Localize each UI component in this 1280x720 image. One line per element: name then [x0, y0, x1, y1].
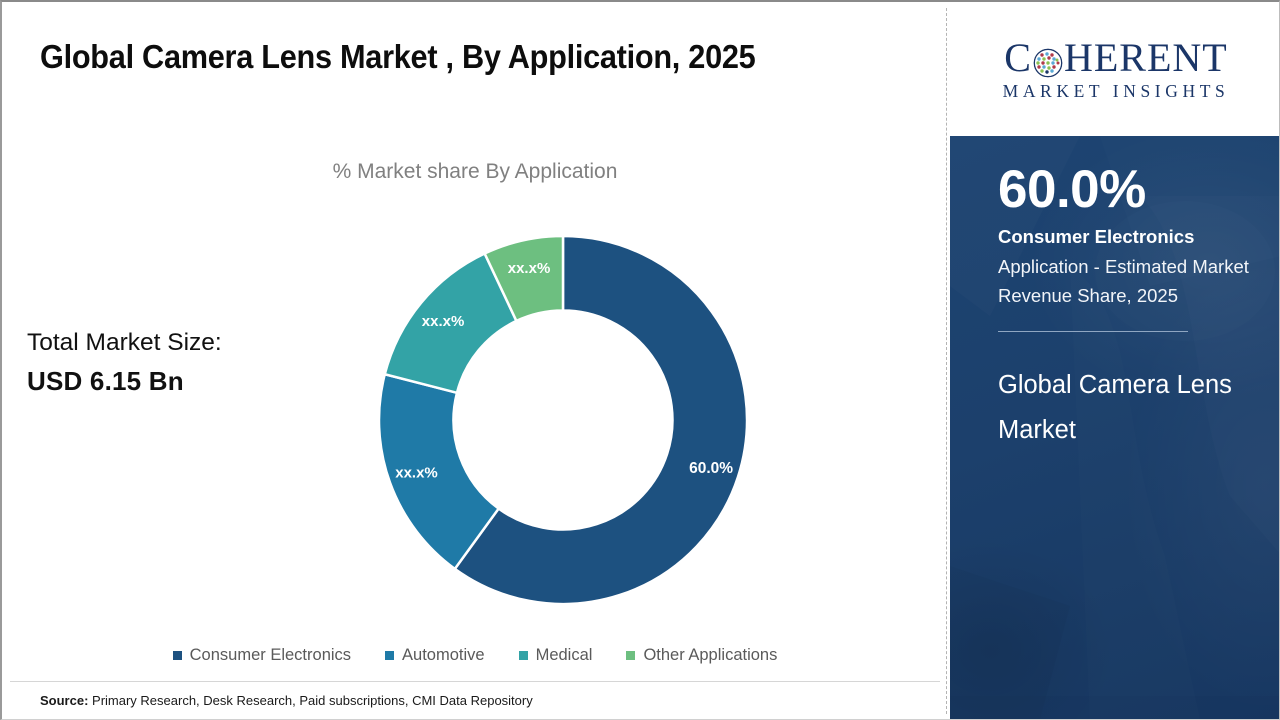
donut-chart: 60.0%xx.x%xx.x%xx.x% — [379, 236, 747, 604]
chart-subtitle: % Market share By Application — [2, 160, 948, 184]
logo-wordmark-rest: HERENT — [1064, 38, 1228, 78]
legend-item-label: Automotive — [402, 646, 485, 665]
source-text: Primary Research, Desk Research, Paid su… — [88, 693, 532, 708]
logo-wordmark: C — [1004, 38, 1227, 78]
market-share-infographic: Global Camera Lens Market , By Applicati… — [0, 0, 1280, 720]
legend-swatch-icon — [519, 651, 528, 660]
source-divider — [10, 681, 940, 682]
legend-item[interactable]: Other Applications — [626, 646, 777, 665]
company-logo: C — [950, 2, 1280, 136]
source-note: Source: Primary Research, Desk Research,… — [40, 693, 533, 708]
stat-content: 60.0% Consumer Electronics Application -… — [998, 160, 1250, 453]
legend-item[interactable]: Medical — [519, 646, 593, 665]
legend-item[interactable]: Automotive — [385, 646, 485, 665]
stat-panel: 60.0% Consumer Electronics Application -… — [950, 136, 1280, 720]
stat-segment-name: Consumer Electronics — [998, 222, 1250, 252]
total-market-size-label: Total Market Size: — [27, 324, 327, 362]
total-market-size-value: USD 6.15 Bn — [27, 362, 327, 400]
brand-stat-pane: C — [950, 2, 1280, 720]
donut-slice-label: xx.x% — [508, 260, 551, 277]
donut-slices — [379, 236, 747, 604]
logo-tagline: MARKET INSIGHTS — [1003, 83, 1230, 101]
chart-pane: Global Camera Lens Market , By Applicati… — [2, 2, 948, 720]
legend-item[interactable]: Consumer Electronics — [173, 646, 351, 665]
donut-slice-label: 60.0% — [689, 460, 733, 477]
total-market-size-block: Total Market Size: USD 6.15 Bn — [27, 324, 327, 400]
legend-item-label: Other Applications — [643, 646, 777, 665]
donut-slice-label: xx.x% — [395, 465, 438, 482]
legend-swatch-icon — [626, 651, 635, 660]
donut-chart-svg: 60.0%xx.x%xx.x%xx.x% — [379, 236, 747, 604]
legend-item-label: Consumer Electronics — [190, 646, 351, 665]
stat-market-name: Global Camera Lens Market — [998, 363, 1250, 453]
logo-letter-c: C — [1004, 38, 1032, 78]
vertical-dashed-separator — [946, 8, 947, 714]
donut-slice-label: xx.x% — [422, 313, 465, 330]
legend-item-label: Medical — [536, 646, 593, 665]
page-title: Global Camera Lens Market , By Applicati… — [40, 32, 821, 82]
globe-icon — [1033, 45, 1063, 75]
chart-legend: Consumer ElectronicsAutomotiveMedicalOth… — [2, 646, 948, 665]
source-label: Source: — [40, 693, 88, 708]
stat-description: Application - Estimated Market Revenue S… — [998, 252, 1250, 310]
legend-swatch-icon — [385, 651, 394, 660]
stat-divider — [998, 331, 1188, 332]
stat-percent-value: 60.0% — [998, 160, 1250, 220]
legend-swatch-icon — [173, 651, 182, 660]
